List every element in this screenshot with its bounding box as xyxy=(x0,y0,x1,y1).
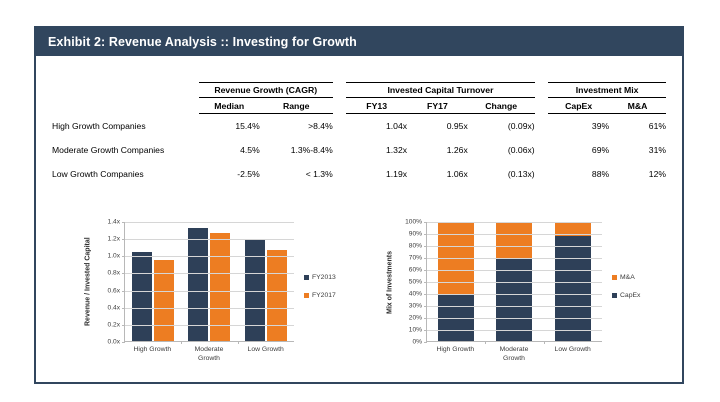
page-title: Exhibit 2: Revenue Analysis :: Investing… xyxy=(48,35,357,49)
axis-tick xyxy=(122,239,125,240)
group-header-revenue-growth: Revenue Growth (CAGR) xyxy=(199,83,333,98)
y-tick-left-2: 1.0x xyxy=(108,253,120,260)
gridline xyxy=(125,256,294,257)
axis-tick xyxy=(424,318,427,319)
table-row: Low Growth Companies -2.5% < 1.3% 1.19x … xyxy=(52,162,666,186)
legend-swatch-icon xyxy=(612,275,617,280)
table-row: High Growth Companies 15.4% >8.4% 1.04x … xyxy=(52,114,666,139)
cell-high-growth-fy13: 1.04x xyxy=(346,114,407,139)
chart-left-plot-area xyxy=(124,222,294,342)
x-tick-label-right-2: Low Growth xyxy=(543,345,602,375)
legend-swatch-icon xyxy=(612,293,617,298)
axis-tick xyxy=(122,325,125,326)
axis-tick xyxy=(424,330,427,331)
chart-revenue-invested-capital: Revenue / Invested Capital 1.4x1.2x1.0x0… xyxy=(82,222,382,382)
cell-high-growth-fy17: 0.95x xyxy=(407,114,468,139)
cell-low-growth-change: (0.13x) xyxy=(468,162,535,186)
cell-low-growth-capex: 88% xyxy=(548,162,609,186)
cell-high-growth-median: 15.4% xyxy=(199,114,260,139)
y-tick-right-3: 70% xyxy=(409,255,422,262)
x-tick-label-line: Moderate xyxy=(485,345,544,354)
row-spacer-2 xyxy=(535,114,549,139)
subheader-median: Median xyxy=(199,98,260,114)
subheader-range: Range xyxy=(260,98,333,114)
slide-header: Exhibit 2: Revenue Analysis :: Investing… xyxy=(36,28,682,56)
axis-tick xyxy=(424,222,427,223)
x-axis-tick xyxy=(485,341,486,344)
cell-moderate-growth-fy17: 1.26x xyxy=(407,138,468,162)
cell-low-growth-range: < 1.3% xyxy=(260,162,333,186)
subheader-spacer-1 xyxy=(333,98,347,114)
y-tick-right-6: 40% xyxy=(409,291,422,298)
cell-moderate-growth-fy13: 1.32x xyxy=(346,138,407,162)
legend-item-right-1[interactable]: CapEx xyxy=(612,292,640,299)
subheader-capex: CapEx xyxy=(548,98,609,114)
row-spacer-1 xyxy=(333,114,347,139)
row-label-low-growth: Low Growth Companies xyxy=(52,162,199,186)
x-axis-tick xyxy=(238,341,239,344)
y-tick-right-1: 90% xyxy=(409,231,422,238)
table-subheader-row: Median Range FY13 FY17 Change CapEx M&A xyxy=(52,98,666,114)
axis-tick xyxy=(424,258,427,259)
y-tick-right-2: 80% xyxy=(409,243,422,250)
gridline xyxy=(427,246,602,247)
axis-tick xyxy=(424,234,427,235)
axis-tick xyxy=(424,282,427,283)
cell-high-growth-change: (0.09x) xyxy=(468,114,535,139)
chart-right-legend: M&ACapEx xyxy=(612,274,640,310)
axis-tick xyxy=(122,222,125,223)
legend-item-left-1[interactable]: FY2017 xyxy=(304,292,336,299)
x-tick-label-right-1: ModerateGrowth xyxy=(485,345,544,375)
charts-container: Revenue / Invested Capital 1.4x1.2x1.0x0… xyxy=(36,222,682,382)
subheader-fy17: FY17 xyxy=(407,98,468,114)
row-spacer-2 xyxy=(535,162,549,186)
group-header-investment-mix: Investment Mix xyxy=(548,83,666,98)
gridline xyxy=(427,306,602,307)
gridline xyxy=(125,291,294,292)
axis-tick xyxy=(424,306,427,307)
axis-tick xyxy=(424,294,427,295)
axis-tick xyxy=(424,246,427,247)
cell-moderate-growth-change: (0.06x) xyxy=(468,138,535,162)
y-tick-right-7: 30% xyxy=(409,303,422,310)
row-spacer-1 xyxy=(333,138,347,162)
group-header-invested-capital-turnover: Invested Capital Turnover xyxy=(346,83,534,98)
x-tick-label-line: High Growth xyxy=(426,345,485,354)
bar-FY2017-low-growth[interactable] xyxy=(267,250,287,341)
legend-item-right-0[interactable]: M&A xyxy=(612,274,640,281)
legend-item-left-0[interactable]: FY2013 xyxy=(304,274,336,281)
cell-high-growth-manda: 61% xyxy=(609,114,666,139)
cell-high-growth-range: >8.4% xyxy=(260,114,333,139)
chart-left-y-axis-title: Revenue / Invested Capital xyxy=(82,222,94,342)
chart-right-y-axis-title: Mix of Investments xyxy=(384,222,396,342)
y-tick-left-5: 0.4x xyxy=(108,304,120,311)
row-spacer-2 xyxy=(535,138,549,162)
gridline xyxy=(125,222,294,223)
x-tick-label-left-1: ModerateGrowth xyxy=(181,345,238,375)
y-tick-right-4: 60% xyxy=(409,267,422,274)
segment-CapEx-low-growth[interactable] xyxy=(555,236,591,341)
x-tick-label-line: High Growth xyxy=(124,345,181,354)
chart-mix-of-investments: Mix of Investments 100%90%80%70%60%50%40… xyxy=(384,222,680,382)
cell-low-growth-median: -2.5% xyxy=(199,162,260,186)
legend-swatch-icon xyxy=(304,293,309,298)
y-tick-left-6: 0.2x xyxy=(108,321,120,328)
axis-tick xyxy=(122,291,125,292)
gridline xyxy=(427,234,602,235)
y-tick-right-0: 100% xyxy=(405,219,422,226)
y-tick-left-0: 1.4x xyxy=(108,219,120,226)
bar-FY2017-high-growth[interactable] xyxy=(154,260,174,341)
chart-left-x-tick-labels: High GrowthModerateGrowthLow Growth xyxy=(124,345,294,375)
gridline xyxy=(427,222,602,223)
subheader-manda: M&A xyxy=(609,98,666,114)
gridline xyxy=(125,239,294,240)
y-tick-left-4: 0.6x xyxy=(108,287,120,294)
segment-M&A-moderate-growth[interactable] xyxy=(496,222,532,259)
row-spacer-1 xyxy=(333,162,347,186)
x-tick-label-right-0: High Growth xyxy=(426,345,485,375)
axis-tick xyxy=(122,308,125,309)
cell-moderate-growth-capex: 69% xyxy=(548,138,609,162)
axis-tick xyxy=(122,256,125,257)
x-tick-label-line: Growth xyxy=(181,354,238,363)
bar-FY2013-high-growth[interactable] xyxy=(132,252,152,341)
table-group-header-row: Revenue Growth (CAGR) Invested Capital T… xyxy=(52,83,666,98)
x-tick-label-left-2: Low Growth xyxy=(237,345,294,375)
gridline xyxy=(427,294,602,295)
gridline xyxy=(125,308,294,309)
axis-tick xyxy=(424,270,427,271)
slide-body: Revenue Growth (CAGR) Invested Capital T… xyxy=(36,56,682,382)
row-label-high-growth: High Growth Companies xyxy=(52,114,199,139)
x-tick-label-line: Low Growth xyxy=(237,345,294,354)
axis-tick xyxy=(424,342,427,343)
subheader-blank xyxy=(52,98,199,114)
chart-right-y-tick-labels: 100%90%80%70%60%50%40%30%20%10%0% xyxy=(396,222,424,342)
axis-tick xyxy=(122,273,125,274)
chart-left-legend: FY2013FY2017 xyxy=(304,274,336,310)
x-tick-label-left-0: High Growth xyxy=(124,345,181,375)
y-tick-left-1: 1.2x xyxy=(108,236,120,243)
axis-tick xyxy=(122,342,125,343)
chart-left-y-tick-labels: 1.4x1.2x1.0x0.8x0.6x0.4x0.2x0.0x xyxy=(94,222,122,342)
y-tick-right-9: 10% xyxy=(409,327,422,334)
row-label-moderate-growth: Moderate Growth Companies xyxy=(52,138,199,162)
x-tick-label-line: Moderate xyxy=(181,345,238,354)
chart-right-x-tick-labels: High GrowthModerateGrowthLow Growth xyxy=(426,345,602,375)
x-axis-tick xyxy=(544,341,545,344)
gridline xyxy=(125,325,294,326)
x-tick-label-line: Low Growth xyxy=(543,345,602,354)
y-tick-left-7: 0.0x xyxy=(108,339,120,346)
subheader-change: Change xyxy=(468,98,535,114)
legend-label: FY2013 xyxy=(312,274,336,281)
y-tick-right-8: 20% xyxy=(409,315,422,322)
x-tick-label-line: Growth xyxy=(485,354,544,363)
legend-label: FY2017 xyxy=(312,292,336,299)
gridline xyxy=(427,282,602,283)
y-tick-right-5: 50% xyxy=(409,279,422,286)
cell-low-growth-fy13: 1.19x xyxy=(346,162,407,186)
cell-moderate-growth-range: 1.3%-8.4% xyxy=(260,138,333,162)
legend-label: M&A xyxy=(620,274,635,281)
cell-high-growth-capex: 39% xyxy=(548,114,609,139)
y-tick-left-3: 0.8x xyxy=(108,270,120,277)
cell-low-growth-fy17: 1.06x xyxy=(407,162,468,186)
exhibit-card: Exhibit 2: Revenue Analysis :: Investing… xyxy=(34,26,684,384)
gridline xyxy=(427,258,602,259)
cell-moderate-growth-manda: 31% xyxy=(609,138,666,162)
summary-table: Revenue Growth (CAGR) Invested Capital T… xyxy=(52,82,666,186)
segment-CapEx-moderate-growth[interactable] xyxy=(496,259,532,341)
legend-label: CapEx xyxy=(620,292,640,299)
cell-low-growth-manda: 12% xyxy=(609,162,666,186)
gridline xyxy=(427,318,602,319)
group-header-blank xyxy=(52,83,199,98)
gridline xyxy=(125,273,294,274)
x-axis-tick xyxy=(181,341,182,344)
table-row: Moderate Growth Companies 4.5% 1.3%-8.4%… xyxy=(52,138,666,162)
gridline xyxy=(427,330,602,331)
chart-right-plot-area xyxy=(426,222,602,342)
subheader-spacer-2 xyxy=(535,98,549,114)
gridline xyxy=(427,270,602,271)
subheader-fy13: FY13 xyxy=(346,98,407,114)
legend-swatch-icon xyxy=(304,275,309,280)
cell-moderate-growth-median: 4.5% xyxy=(199,138,260,162)
group-spacer-1 xyxy=(333,83,347,98)
group-spacer-2 xyxy=(535,83,549,98)
y-tick-right-10: 0% xyxy=(412,339,422,346)
